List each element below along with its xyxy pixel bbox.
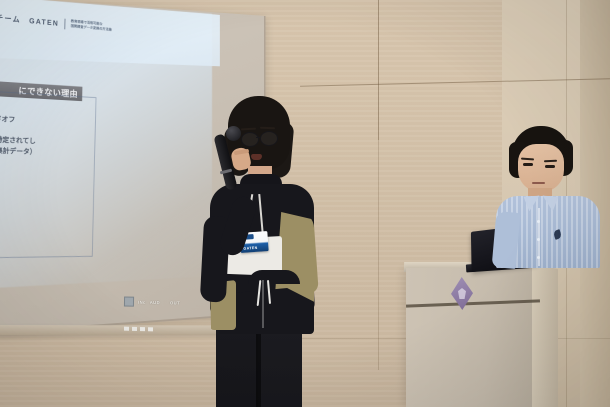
second-person-face [518,144,564,192]
speaker-glasses-bridge [256,137,261,138]
input-label-aud: AUD [150,299,160,304]
presentation-photo-scene: チーム GATEN 教育現場で活用可能な 国勢調査データ変換の方法論 にできない… [0,0,610,407]
ledge-markers [124,327,154,332]
second-person-eye-left [523,163,533,166]
microphone-head-icon [226,126,241,141]
slide-body-line-3: 分的な形（集計データ） [0,145,36,158]
slide-subtitle: 教育現場で活用可能な 国勢調査データ変換の方法論 [71,19,112,32]
slide-body-line-2: と、個人が特定されてし [0,134,36,147]
speaker-mouth [251,154,262,160]
badge-name-text: GATEN [243,245,258,250]
jacket-collar [248,270,300,284]
jacket-zipper [262,280,264,328]
speaker-leg-gap [256,332,261,407]
slide-body-line-1: のトレードオフ [0,113,15,125]
speaker-presenter: GATEN [196,96,328,407]
input-label-in: INc [138,299,146,304]
input-jack-icon [124,297,134,307]
slide-team-label: チーム GATEN [0,12,59,29]
second-person [496,126,600,266]
wall-seam-vertical-a [378,0,379,140]
second-person-button-2 [537,238,540,241]
wall-seam-vertical-b [378,140,379,370]
second-person-button-1 [537,220,540,223]
second-person-arm-left [492,211,521,269]
wall-input-panel[interactable]: INc AUD OUT [124,297,180,308]
second-person-mouth [532,182,545,184]
speaker-glasses-lens-right [260,131,278,146]
speaker-glasses-lens-left [241,132,259,147]
second-person-button-3 [537,256,540,259]
slide-title-separator [64,18,65,29]
podium-side [532,262,558,407]
second-person-eye-right [545,165,555,168]
input-label-out: OUT [170,300,180,305]
podium-front [406,268,540,407]
